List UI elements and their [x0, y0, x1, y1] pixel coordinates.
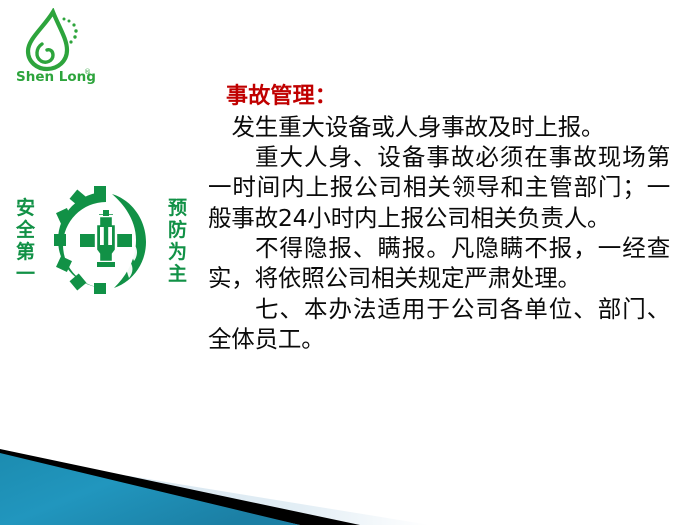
content-body: 事故管理： 发生重大设备或人身事故及时上报。 重大人身、设备事故必须在事故现场第… — [208, 84, 670, 354]
paragraph-4: 七、本办法适用于公司各单位、部门、全体员工。 — [208, 294, 670, 355]
paragraph-1: 发生重大设备或人身事故及时上报。 — [208, 112, 670, 142]
svg-text:为: 为 — [168, 240, 187, 263]
emblem-left-text: 安 全 第 一 — [15, 196, 36, 285]
diagonal-decorative-banner — [0, 425, 700, 525]
section-heading: 事故管理： — [208, 84, 670, 111]
safety-emblem: 安 全 第 一 — [8, 186, 204, 294]
svg-text:第: 第 — [16, 240, 35, 263]
emblem-right-text: 预 防 为 主 — [168, 197, 187, 285]
brand-logo: Shen Long ® — [12, 8, 104, 86]
paragraph-3: 不得隐报、瞒报。凡隐瞒不报，一经查实，将依照公司相关规定严肃处理。 — [208, 233, 670, 294]
registered-mark: ® — [84, 68, 91, 76]
svg-text:防: 防 — [168, 218, 187, 241]
svg-text:全: 全 — [15, 218, 36, 241]
paragraph-2: 重大人身、设备事故必须在事故现场第一时间内上报公司相关领导和主管部门；一般事故2… — [208, 142, 670, 233]
svg-text:主: 主 — [168, 263, 187, 285]
slide-canvas: Shen Long ® 安 全 第 一 — [0, 0, 700, 525]
lamp-tower-icon — [96, 210, 116, 267]
water-drop-icon — [28, 12, 78, 69]
emblem-gear-wheat-icon — [54, 186, 146, 294]
svg-text:一: 一 — [16, 263, 35, 285]
svg-text:预: 预 — [168, 197, 187, 219]
svg-text:安: 安 — [16, 196, 35, 219]
